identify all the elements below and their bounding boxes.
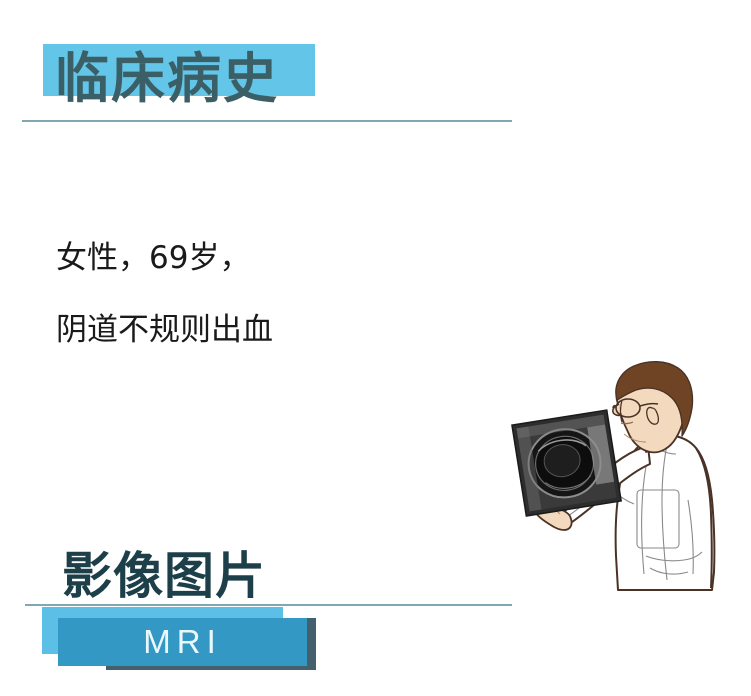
clinical-heading-title: 临床病史 <box>55 50 279 108</box>
clinical-body-line-1: 女性，69岁， <box>56 222 486 294</box>
mri-film-image <box>512 410 621 516</box>
imaging-section: 影像图片 MRI <box>0 540 560 696</box>
imaging-heading-divider <box>25 604 512 606</box>
clinical-body-text: 女性，69岁， 阴道不规则出血 <box>56 222 486 366</box>
clinical-history-section: 临床病史 <box>0 0 560 130</box>
slide-canvas: 临床病史 女性，69岁， 阴道不规则出血 <box>0 0 751 696</box>
imaging-heading-title: 影像图片 <box>62 548 266 604</box>
mri-modality-label: MRI <box>58 618 307 666</box>
clinical-heading-divider <box>22 120 512 122</box>
clinical-body-line-2: 阴道不规则出血 <box>56 294 486 366</box>
